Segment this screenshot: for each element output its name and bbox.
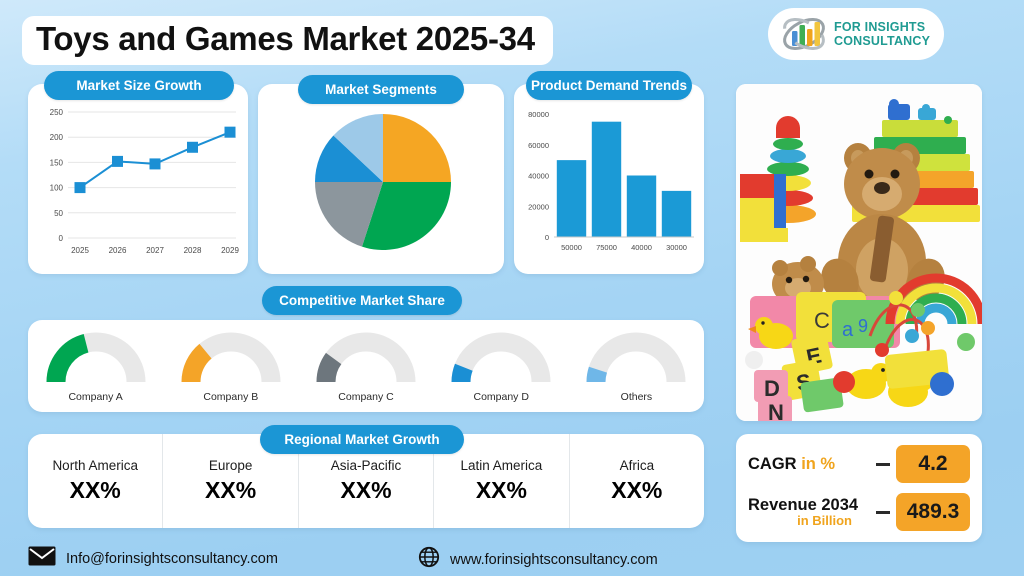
market-size-badge: Market Size Growth — [44, 71, 234, 100]
kpi-row-revenue: Revenue 2034 in Billion 489.3 — [748, 491, 970, 533]
gauge-company-b: Company B — [163, 320, 298, 403]
logo-line-1: FOR INSIGHTS — [834, 20, 930, 34]
svg-text:2027: 2027 — [146, 246, 164, 255]
svg-text:N: N — [768, 400, 784, 421]
svg-text:50000: 50000 — [561, 243, 582, 252]
globe-icon — [418, 546, 440, 573]
page-title-container: Toys and Games Market 2025-34 — [22, 16, 553, 65]
region-value: XX% — [611, 477, 662, 504]
gauge-label: Company A — [68, 391, 122, 403]
svg-text:0: 0 — [59, 234, 64, 243]
svg-text:2025: 2025 — [71, 246, 89, 255]
gauge-label: Company B — [203, 391, 258, 403]
toys-photo: C a 9 — [736, 84, 982, 421]
svg-text:40000: 40000 — [528, 172, 549, 181]
kpi-cagr-value: 4.2 — [896, 445, 970, 483]
kpi-revenue-labels: Revenue 2034 in Billion — [748, 496, 870, 528]
kpi-revenue-title: Revenue 2034 — [748, 496, 870, 514]
svg-text:60000: 60000 — [528, 141, 549, 150]
product-demand-bar-chart: 020000400006000080000 500007500040000300… — [518, 104, 700, 270]
region-value: XX% — [340, 477, 391, 504]
svg-text:0: 0 — [545, 233, 549, 242]
competitive-share-badge: Competitive Market Share — [262, 286, 462, 315]
kpi-row-cagr: CAGR in % 4.2 — [748, 443, 970, 485]
market-segments-pie-chart — [313, 112, 453, 252]
infographic-page: Toys and Games Market 2025-34 FOR INSIGH… — [0, 0, 1024, 576]
svg-text:2029: 2029 — [221, 246, 239, 255]
gauge-company-a: Company A — [28, 320, 163, 403]
svg-text:200: 200 — [50, 133, 64, 142]
footer-website[interactable]: www.forinsightsconsultancy.com — [418, 546, 658, 573]
gauge-row: Company ACompany BCompany CCompany DOthe… — [28, 320, 704, 412]
envelope-icon — [28, 546, 56, 571]
svg-text:40000: 40000 — [631, 243, 652, 252]
svg-text:C: C — [814, 308, 830, 333]
svg-text:100: 100 — [50, 184, 64, 193]
kpi-panel: CAGR in % 4.2 Revenue 2034 in Billion 48… — [736, 434, 982, 542]
gauge-company-d: Company D — [434, 320, 569, 403]
region-name: Europe — [209, 458, 253, 473]
market-segments-badge: Market Segments — [298, 75, 464, 104]
page-title: Toys and Games Market 2025-34 — [36, 20, 535, 59]
footer-website-text: www.forinsightsconsultancy.com — [450, 552, 658, 568]
footer: Info@forinsightsconsultancy.com www.fori… — [0, 538, 1024, 576]
region-name: Africa — [620, 458, 655, 473]
logo-line-2: CONSULTANCY — [834, 34, 930, 48]
footer-email[interactable]: Info@forinsightsconsultancy.com — [28, 546, 278, 571]
region-value: XX% — [70, 477, 121, 504]
region-name: Asia-Pacific — [331, 458, 402, 473]
kpi-revenue-dash — [876, 511, 890, 514]
region-cell-africa: AfricaXX% — [570, 434, 704, 528]
region-value: XX% — [205, 477, 256, 504]
bar-chart-orbit-logo-icon — [780, 13, 828, 55]
svg-text:50: 50 — [54, 209, 63, 218]
gauge-arc — [38, 326, 154, 388]
svg-text:20000: 20000 — [528, 202, 549, 211]
gauge-arc — [443, 326, 559, 388]
region-name: Latin America — [461, 458, 543, 473]
svg-text:75000: 75000 — [596, 243, 617, 252]
gauge-others: Others — [569, 320, 704, 403]
market-size-line-chart: 050100150200250 20252026202720282029 — [34, 104, 242, 270]
svg-text:9: 9 — [858, 316, 868, 336]
kpi-cagr-labels: CAGR in % — [748, 455, 870, 473]
logo-text: FOR INSIGHTS CONSULTANCY — [834, 20, 930, 48]
gauge-arc — [173, 326, 289, 388]
gauge-label: Company C — [338, 391, 393, 403]
product-demand-badge: Product Demand Trends — [526, 71, 692, 100]
kpi-cagr-dash — [876, 463, 890, 466]
svg-text:30000: 30000 — [666, 243, 687, 252]
svg-text:2026: 2026 — [109, 246, 127, 255]
gauge-arc — [578, 326, 694, 388]
gauge-label: Others — [621, 391, 653, 403]
svg-text:250: 250 — [50, 108, 64, 117]
company-logo: FOR INSIGHTS CONSULTANCY — [768, 8, 944, 60]
svg-text:2028: 2028 — [184, 246, 202, 255]
svg-text:80000: 80000 — [528, 110, 549, 119]
region-value: XX% — [476, 477, 527, 504]
svg-text:a: a — [842, 319, 854, 341]
svg-text:150: 150 — [50, 158, 64, 167]
kpi-cagr-unit: in % — [801, 455, 835, 473]
kpi-cagr-title: CAGR in % — [748, 455, 870, 473]
region-cell-north-america: North AmericaXX% — [28, 434, 163, 528]
gauge-company-c: Company C — [298, 320, 433, 403]
gauge-label: Company D — [473, 391, 528, 403]
kpi-revenue-value: 489.3 — [896, 493, 970, 531]
region-name: North America — [52, 458, 138, 473]
regional-growth-badge: Regional Market Growth — [260, 425, 464, 454]
kpi-cagr-name: CAGR — [748, 455, 797, 473]
footer-email-text: Info@forinsightsconsultancy.com — [66, 551, 278, 567]
gauge-arc — [308, 326, 424, 388]
kpi-revenue-unit: in Billion — [748, 514, 870, 528]
